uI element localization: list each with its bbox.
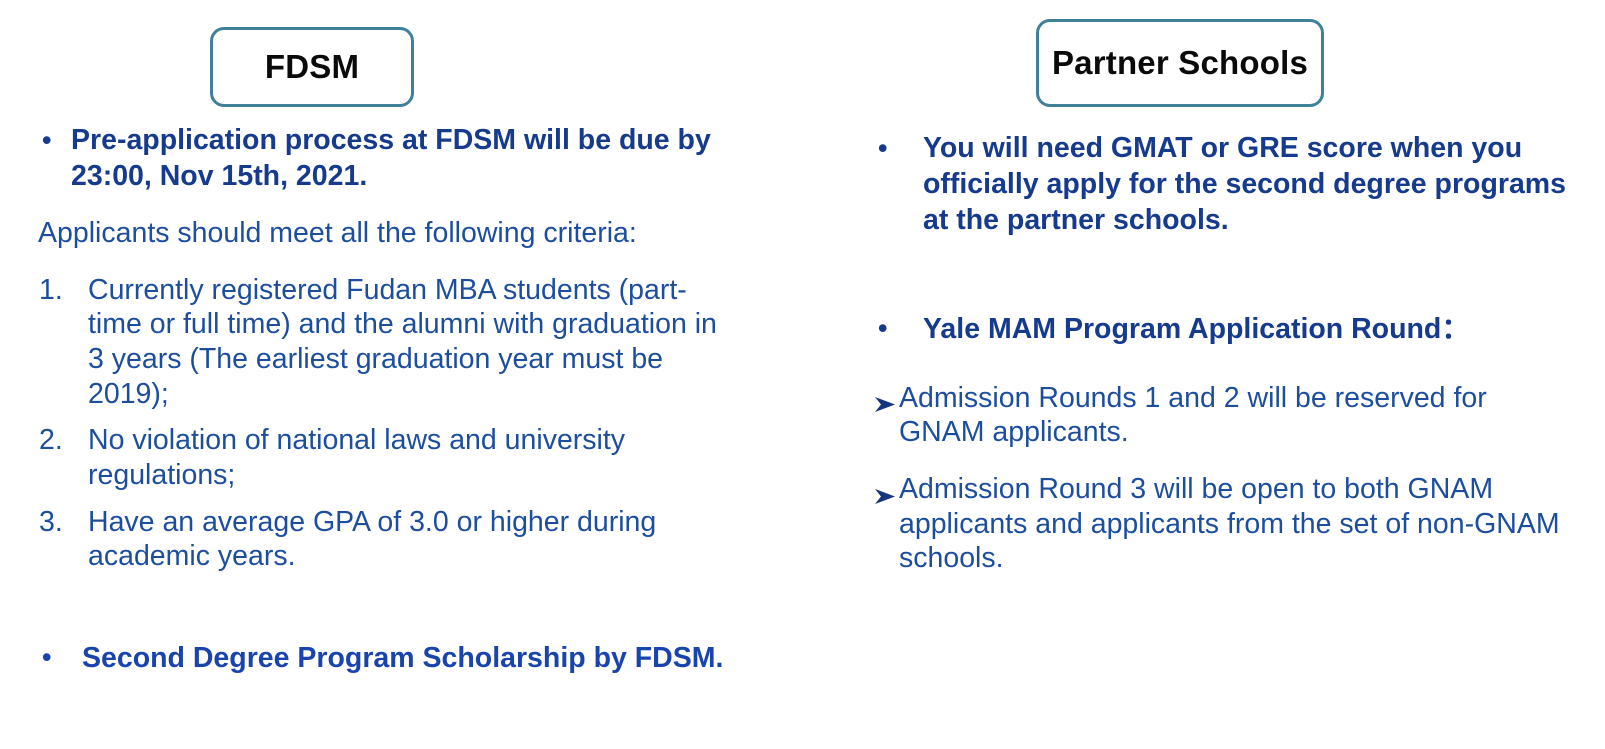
spacer — [30, 251, 730, 273]
right-gmat-bullet-text: You will need GMAT or GRE score when you… — [923, 132, 1566, 236]
criteria-number: 3. — [39, 505, 79, 540]
partner-schools-header-box: Partner Schools — [1036, 19, 1324, 107]
spacer — [866, 239, 1566, 311]
criteria-item: 3. Have an average GPA of 3.0 or higher … — [30, 505, 730, 574]
bullet-dot-icon: • — [42, 640, 51, 674]
criteria-text: Currently registered Fudan MBA students … — [88, 274, 717, 410]
spacer — [30, 586, 730, 640]
criteria-text: Have an average GPA of 3.0 or higher dur… — [88, 506, 656, 573]
right-gmat-bullet: • You will need GMAT or GRE score when y… — [866, 130, 1566, 239]
spacer — [866, 347, 1566, 381]
criteria-list: 1. Currently registered Fudan MBA studen… — [30, 273, 730, 574]
bullet-dot-icon: • — [878, 131, 887, 165]
left-scholarship-bullet: • Second Degree Program Scholarship by F… — [30, 640, 730, 676]
spacer — [866, 450, 1566, 472]
right-yale-bullet: • Yale MAM Program Application Round： — [866, 311, 1566, 347]
spacer — [30, 194, 730, 216]
bullet-dot-icon: • — [878, 311, 887, 345]
fdsm-header-label: FDSM — [265, 48, 359, 86]
right-column: • You will need GMAT or GRE score when y… — [866, 130, 1566, 576]
slide-canvas: FDSM Partner Schools • Pre-application p… — [0, 0, 1605, 749]
criteria-number: 1. — [39, 273, 79, 308]
left-intro-text: Applicants should meet all the following… — [30, 216, 730, 250]
criteria-text: No violation of national laws and univer… — [88, 424, 625, 491]
left-column: • Pre-application process at FDSM will b… — [30, 122, 730, 676]
right-yale-bullet-text: Yale MAM Program Application Round： — [923, 313, 1470, 345]
fdsm-header-box: FDSM — [210, 27, 414, 107]
left-lead-bullet-text: Pre-application process at FDSM will be … — [71, 124, 711, 192]
criteria-number: 2. — [39, 423, 79, 458]
criteria-item: 1. Currently registered Fudan MBA studen… — [30, 273, 730, 412]
admission-round-12-item: Admission Rounds 1 and 2 will be reserve… — [866, 381, 1566, 450]
arrow-bullet-icon — [873, 481, 897, 502]
left-scholarship-bullet-text: Second Degree Program Scholarship by FDS… — [82, 642, 723, 674]
admission-round-3-text: Admission Round 3 will be open to both G… — [899, 473, 1560, 574]
arrow-bullet-icon — [873, 389, 897, 410]
criteria-item: 2. No violation of national laws and uni… — [30, 423, 730, 492]
partner-schools-header-label: Partner Schools — [1052, 44, 1308, 82]
bullet-dot-icon: • — [42, 123, 51, 157]
left-lead-bullet: • Pre-application process at FDSM will b… — [30, 122, 730, 194]
admission-round-3-item: Admission Round 3 will be open to both G… — [866, 472, 1566, 576]
admission-round-12-text: Admission Rounds 1 and 2 will be reserve… — [899, 382, 1487, 449]
